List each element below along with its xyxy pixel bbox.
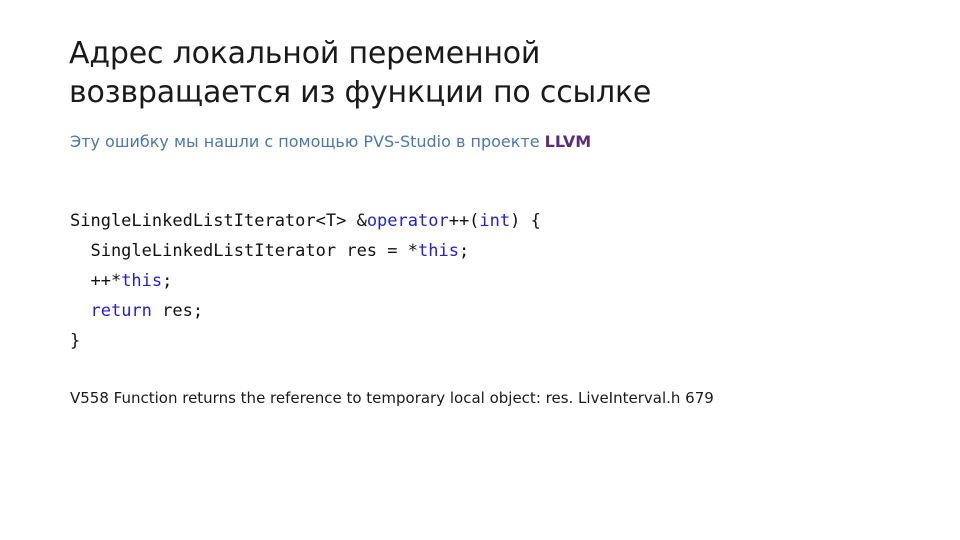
subtitle: Эту ошибку мы нашли с помощью PVS-Studio… (70, 131, 591, 153)
page-title-line-2: возвращается из функции по ссылке (69, 73, 869, 112)
code-token-semicolon-3: ; (162, 271, 172, 291)
code-token-signature-start: SingleLinkedListIterator<T> & (70, 211, 367, 231)
code-keyword-return: return (90, 301, 151, 321)
subtitle-prefix-text: Эту ошибку мы нашли с помощью PVS-Studio… (70, 132, 545, 151)
project-name-label: LLVM (545, 132, 592, 151)
code-token-semicolon-2: ; (459, 241, 469, 261)
code-keyword-operator: operator (367, 211, 449, 231)
code-token-indent-4 (70, 301, 90, 321)
code-snippet: SingleLinkedListIterator<T> &operator++(… (70, 206, 541, 356)
page-title-line-1: Адрес локальной переменной (69, 34, 869, 73)
code-token-res-declaration: SingleLinkedListIterator res = * (70, 241, 418, 261)
code-token-res-value: res; (152, 301, 203, 321)
diagnostic-message: V558 Function returns the reference to t… (70, 386, 880, 411)
presentation-slide: Адрес локальной переменной возвращается … (0, 0, 960, 540)
code-line-1: SingleLinkedListIterator<T> &operator++(… (70, 206, 541, 236)
code-token-close-paren-brace: ) { (510, 211, 541, 231)
page-title: Адрес локальной переменной возвращается … (69, 34, 869, 112)
code-line-4: return res; (70, 296, 541, 326)
code-keyword-int: int (479, 211, 510, 231)
code-keyword-this-assign: this (418, 241, 459, 261)
code-token-closing-brace: } (70, 331, 80, 351)
code-token-increment-open-paren: ++( (449, 211, 480, 231)
code-token-preincrement: ++* (70, 271, 121, 291)
code-line-5: } (70, 326, 541, 356)
code-keyword-this-increment: this (121, 271, 162, 291)
code-line-3: ++*this; (70, 266, 541, 296)
code-line-2: SingleLinkedListIterator res = *this; (70, 236, 541, 266)
